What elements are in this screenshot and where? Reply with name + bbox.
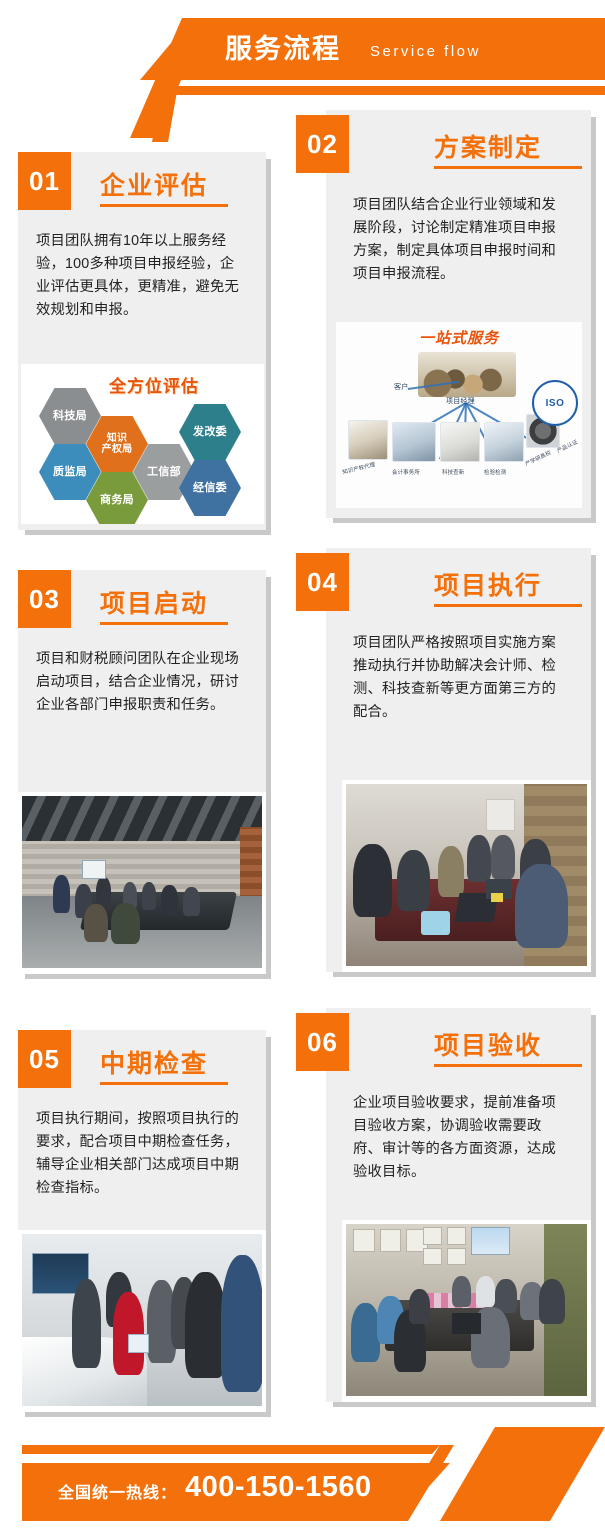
card-number-badge: 01 <box>18 152 71 210</box>
hub-meeting-thumb <box>418 352 516 397</box>
card-number-badge: 04 <box>296 553 349 611</box>
hex-label: 商务局 <box>100 494 134 507</box>
infographic-page: 服务流程 Service flow 01 企业评估 项目团队拥有10年以上服务经… <box>0 0 605 1538</box>
wall-certificate <box>353 1229 375 1251</box>
photo-site-visit <box>18 1230 266 1412</box>
card-title: 项目启动 <box>100 584 208 620</box>
photo-working-meeting <box>342 780 591 972</box>
service-node-thumb <box>440 422 480 462</box>
photo-conference-room <box>18 792 266 974</box>
service-node-label: 会计事务所 <box>392 468 420 476</box>
project-manager-label: 项目经理 <box>446 396 475 406</box>
card-description: 项目和财税顾问团队在企业现场启动项目，结合企业情况，研讨企业各部门申报职责和任务… <box>36 648 248 717</box>
card-title: 中期检查 <box>100 1044 208 1080</box>
process-card-05[interactable]: 05 中期检查 项目执行期间，按照项目执行的要求，配合项目中期检查任务，辅导企业… <box>18 1030 278 1418</box>
card-number-badge: 06 <box>296 1013 349 1071</box>
hotline-label: 全国统一热线： <box>58 1479 177 1503</box>
hotline-phone[interactable]: 400-150-1560 <box>185 1471 372 1504</box>
hex-label: 发改委 <box>193 426 227 439</box>
header-banner-underbar <box>155 86 605 95</box>
card-title: 项目执行 <box>434 566 542 602</box>
process-card-01[interactable]: 01 企业评估 项目团队拥有10年以上服务经验，100多种项目申报经验，企业评估… <box>18 152 278 536</box>
card-title-rule <box>100 204 228 207</box>
card-title: 项目验收 <box>434 1026 542 1062</box>
service-node-label: 检验检测 <box>484 468 506 476</box>
card-title-rule <box>434 166 582 169</box>
service-node-thumb <box>392 422 436 462</box>
service-node-thumb <box>484 422 524 462</box>
hexagon-graphic-title: 全方位评估 <box>109 372 199 397</box>
wall-certificate <box>423 1227 442 1244</box>
wall-certificate <box>380 1229 402 1251</box>
card-number-badge: 02 <box>296 115 349 173</box>
process-card-02[interactable]: 02 方案制定 项目团队结合企业行业领域和发展阶段，讨论制定精准项目申报方案，制… <box>296 110 596 525</box>
presentation-screen <box>471 1227 510 1255</box>
assessment-hexagon-graphic: 全方位评估 科技局 知识 产权局 发改委 质监局 工信部 商务局 经信委 <box>21 364 264 524</box>
card-number-badge: 03 <box>18 570 71 628</box>
wall-certificate <box>447 1227 466 1244</box>
card-description: 项目团队结合企业行业领域和发展阶段，讨论制定精准项目申报方案，制定具体项目申报时… <box>353 194 567 287</box>
card-description: 项目执行期间，按照项目执行的要求，配合项目中期检查任务，辅导企业相关部门达成项目… <box>36 1108 248 1201</box>
card-title-rule <box>434 1064 582 1067</box>
hex-label: 知识 产权局 <box>102 433 133 456</box>
hex-label: 经信委 <box>193 482 227 495</box>
wall-certificate <box>423 1248 442 1265</box>
card-title-rule <box>100 622 228 625</box>
service-node-label: 产学研高校 <box>524 448 553 467</box>
page-footer: 全国统一热线： 400-150-1560 <box>0 1413 605 1538</box>
card-title-rule <box>100 1082 228 1085</box>
client-label: 客户 <box>394 382 408 392</box>
hex-label: 科技局 <box>53 410 87 423</box>
footer-underbar <box>22 1445 440 1454</box>
card-description: 企业项目验收要求，提前准备项目验收方案，协调验收需要政府、审计等的各方面资源，达… <box>353 1092 567 1185</box>
one-stop-title: 一站式服务 <box>336 327 582 348</box>
page-title: 服务流程 <box>225 27 341 71</box>
service-node-label: 知识产权代理 <box>342 460 376 476</box>
seal-text: ISO <box>546 398 565 409</box>
card-description: 项目团队拥有10年以上服务经验，100多种项目申报经验，企业评估更具体，更精准，… <box>36 230 248 323</box>
card-title: 方案制定 <box>434 128 542 164</box>
card-title: 企业评估 <box>100 166 208 202</box>
process-card-03[interactable]: 03 项目启动 项目和财税顾问团队在企业现场启动项目，结合企业情况，研讨企业各部… <box>18 570 278 980</box>
process-card-04[interactable]: 04 项目执行 项目团队严格按照项目实施方案推动执行并协助解决会计师、检测、科技… <box>296 548 596 978</box>
hex-label: 工信部 <box>147 466 181 479</box>
card-title-rule <box>434 604 582 607</box>
card-description: 项目团队严格按照项目实施方案推动执行并协助解决会计师、检测、科技查新等更方面第三… <box>353 632 567 725</box>
process-card-06[interactable]: 06 项目验收 企业项目验收要求，提前准备项目验收方案，协调验收需要政府、审计等… <box>296 1008 596 1408</box>
page-subtitle: Service flow <box>370 38 481 66</box>
card-number-badge: 05 <box>18 1030 71 1088</box>
service-node-thumb <box>348 420 388 460</box>
hex-label: 质监局 <box>53 466 87 479</box>
photo-acceptance-meeting <box>342 1220 591 1402</box>
hex-node-fagaiwei: 发改委 <box>179 404 241 460</box>
one-stop-service-graphic: 一站式服务 客户 项目经理 ISO 知识产权代理 会计事 <box>336 322 582 508</box>
service-node-label: 科技查新 <box>442 468 464 476</box>
wall-certificate <box>447 1248 466 1265</box>
certification-seal-icon: ISO <box>532 380 578 426</box>
page-header: 服务流程 Service flow <box>0 0 605 112</box>
